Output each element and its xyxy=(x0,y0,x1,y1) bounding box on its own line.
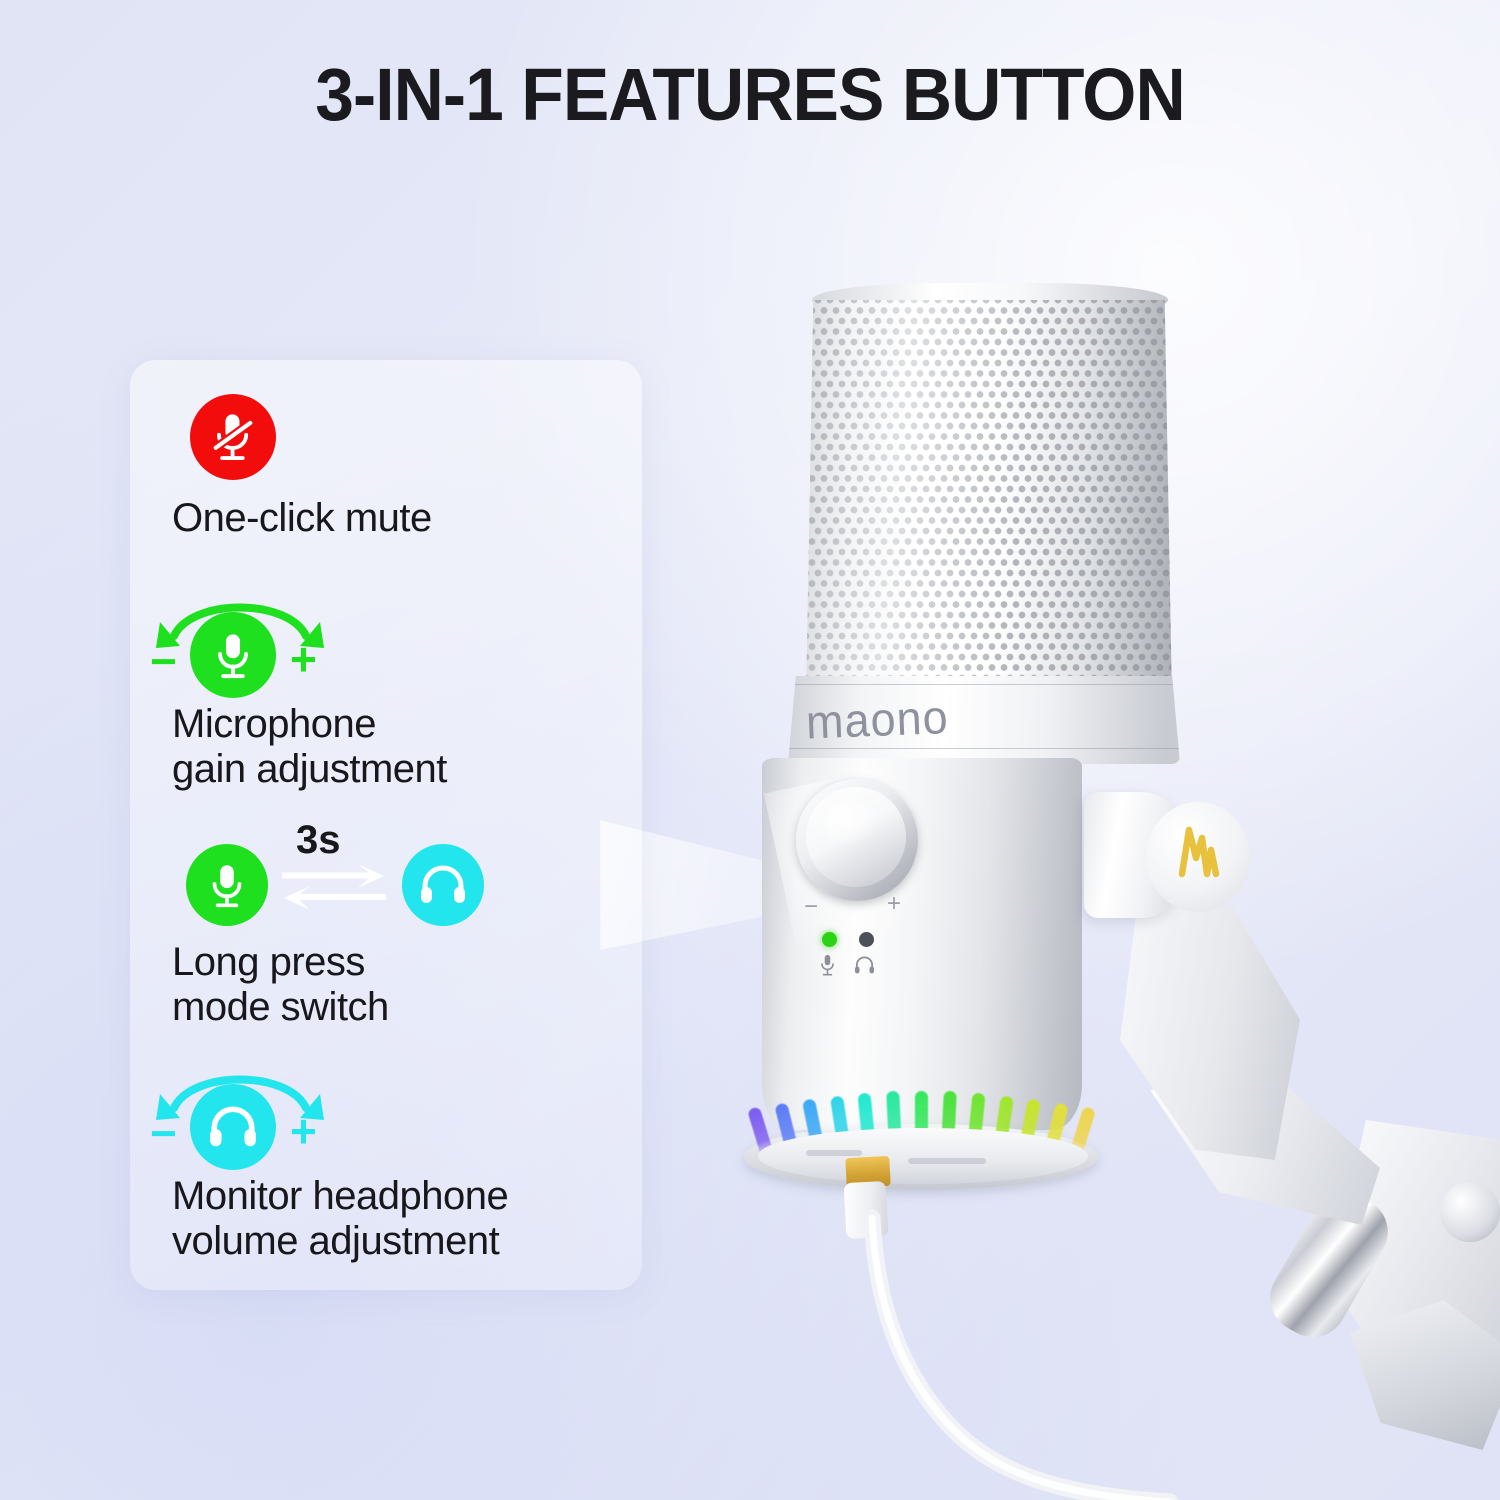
volume-minus-sign: − xyxy=(150,1110,177,1156)
feature-label: Monitor headphone volume adjustment xyxy=(130,1174,642,1264)
honeycomb-pattern xyxy=(806,300,1172,700)
brand-logo-text: maono xyxy=(805,690,950,750)
volume-plus-sign: + xyxy=(290,1108,317,1154)
feature-one-click-mute: One-click mute xyxy=(130,388,642,541)
feature-icon-row: 3s xyxy=(130,832,642,940)
knob-plus-label: + xyxy=(887,890,901,918)
feature-long-press-mode-switch: 3s Long press mo xyxy=(130,832,642,1030)
gain-plus-sign: + xyxy=(290,636,317,682)
led-mic-indicator xyxy=(822,932,837,947)
gain-minus-sign: − xyxy=(150,638,177,684)
mic-indicator-icon xyxy=(818,954,837,983)
led-headphone-indicator xyxy=(859,932,874,947)
feature-icon-row xyxy=(130,388,642,496)
feature-label: Long press mode switch xyxy=(130,940,642,1030)
knob-inner-face xyxy=(806,787,906,887)
feature-label: Microphone gain adjustment xyxy=(130,702,642,792)
features-panel: One-click mute xyxy=(130,360,642,1290)
usb-c-plug xyxy=(844,1181,889,1239)
feature-microphone-gain-adjustment: − + Microphone gain adjustment xyxy=(130,594,642,792)
headphone-indicator-icon xyxy=(854,954,875,981)
headphone-icon xyxy=(402,844,484,926)
bidirectional-arrows-icon xyxy=(280,862,388,915)
mount-yoke-arm xyxy=(1120,900,1300,1160)
clamp-screw-knob xyxy=(1440,1182,1500,1242)
mic-icon xyxy=(190,612,276,698)
long-press-duration-label: 3s xyxy=(296,818,341,863)
mic-bottom-plate xyxy=(758,1128,1088,1184)
feature-label: One-click mute xyxy=(130,496,642,541)
gain-volume-knob[interactable] xyxy=(796,779,918,901)
knob-highlight xyxy=(824,801,880,847)
infographic-canvas: 3-IN-1 FEATURES BUTTON maono xyxy=(0,0,1500,1500)
headphone-icon xyxy=(190,1084,276,1170)
mic-muted-icon xyxy=(190,394,276,480)
usb-cable xyxy=(700,1200,1220,1500)
feature-monitor-headphone-volume-adjustment: − + Monitor headphone volume adjustment xyxy=(130,1066,642,1264)
mic-icon xyxy=(186,844,268,926)
maono-m-icon xyxy=(1176,824,1222,885)
feature-icon-row: − + xyxy=(130,1066,642,1174)
feature-icon-row: − + xyxy=(130,594,642,702)
knob-minus-label: − xyxy=(804,893,818,921)
mic-grille xyxy=(806,300,1172,700)
